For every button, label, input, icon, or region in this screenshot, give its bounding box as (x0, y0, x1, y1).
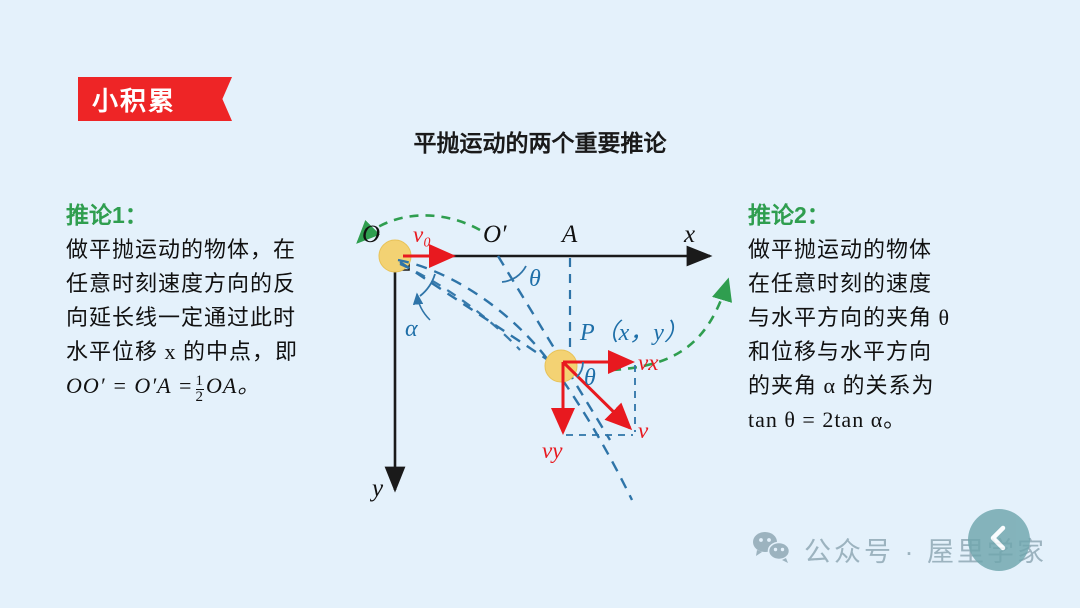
formula-fraction: 12 (196, 374, 205, 407)
label-vx: vx (638, 350, 659, 375)
trajectory-curve (398, 260, 632, 500)
label-v: v (638, 418, 649, 443)
label-theta-point: θ (584, 365, 596, 391)
alpha-leader-line (417, 294, 430, 320)
label-alpha: α (405, 316, 418, 342)
theta-angle-arc-point (577, 362, 583, 377)
banner-notch (208, 77, 232, 121)
ball-point-p (545, 350, 577, 382)
back-button[interactable] (968, 509, 1030, 571)
page-title: 平抛运动的两个重要推论 (0, 124, 1080, 158)
label-v0: v₀ (413, 222, 431, 247)
label-theta-axis: θ (529, 266, 541, 292)
v-resultant-vector (563, 362, 630, 428)
label-point-p: P（x，y） (579, 319, 688, 346)
formula-lhs: OO′ = O′A = (66, 373, 194, 398)
chevron-left-icon (984, 523, 1014, 558)
label-a: A (560, 221, 578, 248)
label-x-axis: x (683, 221, 695, 248)
helper-dashed-curve (400, 264, 520, 350)
label-vy: vy (542, 438, 563, 463)
projectile-motion-diagram: O O′ A x y v₀ α θ θ P（x，y） vx vy v (280, 170, 800, 530)
label-origin: O (362, 221, 380, 248)
banner-label: 小积累 (92, 81, 176, 118)
fraction-numerator: 1 (196, 374, 205, 390)
formula-rhs: OA。 (206, 373, 260, 398)
theta-angle-arc-axis (502, 266, 526, 282)
velocity-reverse-extension (498, 256, 610, 440)
wechat-icon (752, 530, 792, 569)
fraction-denominator: 2 (196, 389, 205, 406)
section-banner: 小积累 (78, 77, 208, 121)
label-o-prime: O′ (483, 221, 507, 248)
label-y-axis: y (369, 475, 384, 502)
